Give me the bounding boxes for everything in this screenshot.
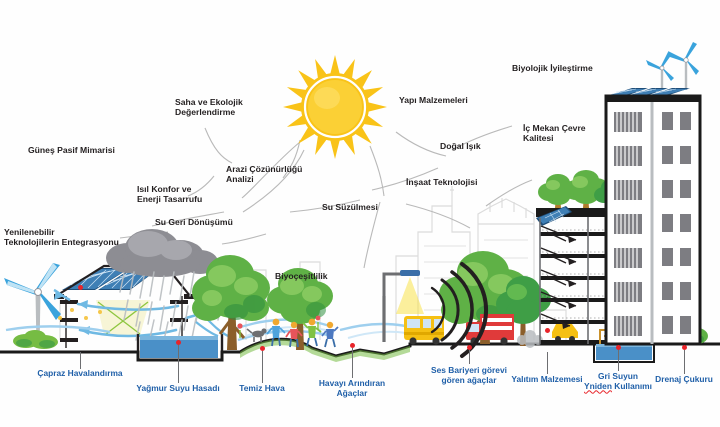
- leader-yagmur: [178, 345, 179, 383]
- leader-capraz: [80, 352, 81, 369]
- label-capraz-havalandirma: Çapraz Havalandırma: [15, 369, 145, 379]
- leader-yalitim: [547, 352, 548, 374]
- label-temiz-hava: Temiz Hava: [217, 384, 307, 394]
- label-saha-ve-ekolojik-degerlendirme: Saha ve Ekolojik Değerlendirme: [175, 98, 295, 118]
- label-su-geri-donusumu: Su Geri Dönüşümü: [155, 218, 275, 228]
- label-dogal-isik: Doğal Işık: [440, 142, 520, 152]
- leader-havayi: [352, 348, 353, 378]
- label-yenilenebilir-teknolojilerin-entegrasyonu: Yenilenebilir Teknolojilerin Entegrasyon…: [4, 228, 164, 248]
- label-arazi-cozunurlugu-analizi: Arazi Çözünürlüğü Analizi: [226, 165, 336, 185]
- label-gunes-pasif-mimarisi: Güneş Pasif Mimarisi: [28, 146, 168, 156]
- label-yapi-malzemeleri: Yapı Malzemeleri: [399, 96, 519, 106]
- dot-drenaj: [682, 345, 687, 350]
- label-su-suzulmesi: Su Süzülmesi: [322, 203, 422, 213]
- infographic-canvas: Güneş Pasif MimarisiSaha ve Ekolojik Değ…: [0, 0, 720, 427]
- leader-ses: [469, 350, 470, 364]
- label-havayi-arindiran-agaclar: Havayı Arındıran Ağaçlar: [297, 379, 407, 398]
- leader-gri: [618, 350, 619, 371]
- label-drenaj-cukuru: Drenaj Çukuru: [637, 375, 720, 385]
- label-biyolojik-iyilestirme: Biyolojik İyileştirme: [512, 64, 652, 74]
- leader-temiz: [262, 351, 263, 383]
- dot-temiz: [260, 346, 265, 351]
- dot-yagmur: [176, 340, 181, 345]
- dot-capraz: [78, 285, 83, 290]
- leader-drenaj: [684, 350, 685, 374]
- label-isil-konfor-ve-enerji-tasarrufu: Isıl Konfor ve Enerji Tasarrufu: [137, 185, 247, 205]
- dot-yalitim: [545, 328, 550, 333]
- dot-gri: [616, 345, 621, 350]
- label-biyocesitlilik: Biyoçeşitlilik: [275, 272, 365, 282]
- dot-havayi: [350, 343, 355, 348]
- wind-turbine-icon: [646, 42, 699, 90]
- label-insaat-teknolojisi: İnşaat Teknolojisi: [406, 178, 526, 188]
- label-ic-mekan-cevre-kalitesi: İç Mekan Çevre Kalitesi: [523, 124, 643, 144]
- dot-ses: [467, 345, 472, 350]
